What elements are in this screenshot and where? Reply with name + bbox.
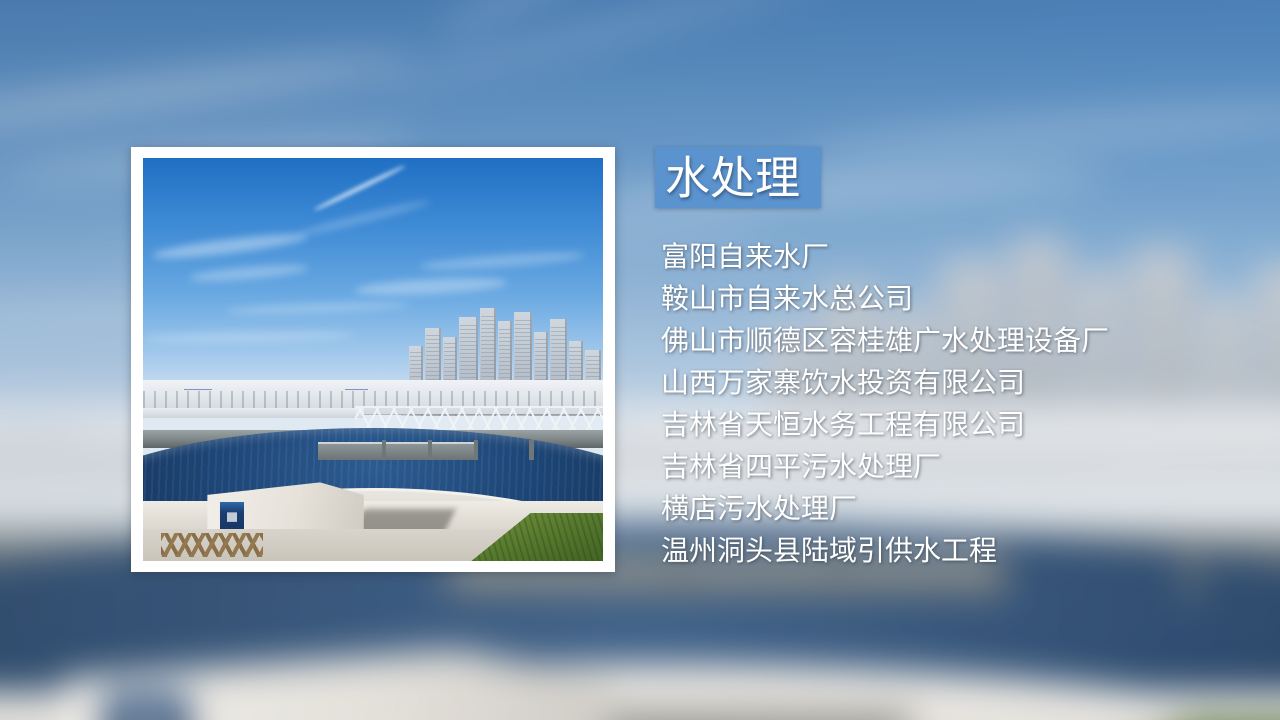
slide-canvas: 水处理 富阳自来水厂 鞍山市自来水总公司 佛山市顺德区容桂雄广水处理设备厂 山西…	[0, 0, 1280, 720]
band-accent	[0, 428, 80, 430]
list-item: 温州洞头县陆域引供水工程	[661, 530, 1221, 572]
list-item: 富阳自来水厂	[661, 236, 1221, 278]
scene-photo	[143, 158, 603, 561]
list-item: 吉林省天恒水务工程有限公司	[661, 404, 1221, 446]
list-item: 佛山市顺德区容桂雄广水处理设备厂	[661, 320, 1221, 362]
support-pillar	[529, 440, 533, 460]
plant-sign	[104, 691, 189, 720]
list-item: 横店污水处理厂	[661, 488, 1221, 530]
page-title: 水处理	[665, 155, 800, 200]
band-accent	[345, 389, 368, 390]
support-pillar	[382, 440, 386, 460]
cloud-streak	[189, 262, 309, 284]
cloud-streak	[152, 229, 309, 262]
cloud-streak	[354, 275, 506, 297]
weir-platform	[318, 442, 474, 460]
cloud-streak	[419, 249, 585, 273]
box-shadow	[555, 710, 917, 720]
project-list: 富阳自来水厂 鞍山市自来水总公司 佛山市顺德区容桂雄广水处理设备厂 山西万家寨饮…	[661, 236, 1221, 572]
band-accent	[184, 389, 212, 390]
list-item: 山西万家寨饮水投资有限公司	[661, 362, 1221, 404]
contrail	[313, 164, 406, 212]
cloud-streak	[373, 0, 844, 96]
photo-frame	[131, 147, 615, 572]
list-item: 鞍山市自来水总公司	[661, 278, 1221, 320]
support-pillar	[474, 440, 478, 460]
cloud-streak	[296, 198, 432, 239]
list-item: 吉林省四平污水处理厂	[661, 446, 1221, 488]
title-highlight-box: 水处理	[655, 147, 821, 208]
cloud-streak	[143, 329, 355, 345]
drain-grate	[161, 533, 262, 557]
photo-image	[143, 158, 603, 561]
cloud-streak	[0, 43, 416, 141]
cloud-streak	[226, 300, 410, 317]
cloud-streak	[800, 94, 1280, 163]
support-pillar	[428, 440, 432, 460]
